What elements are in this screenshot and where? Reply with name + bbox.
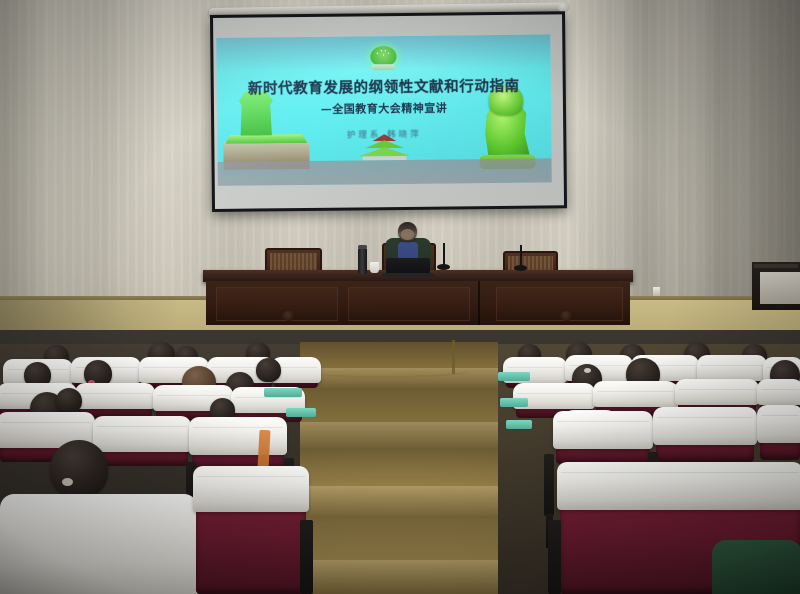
aisle-riser bbox=[300, 516, 498, 560]
table-seam bbox=[478, 281, 480, 325]
lecture-hall-photo: 新时代教育发展的纲领性文献和行动指南 —全国教育大会精神宣讲 护理系 韩晓萍 bbox=[0, 0, 800, 594]
hair-tie bbox=[584, 368, 591, 373]
seat-cover bbox=[675, 379, 759, 405]
thermos-flask bbox=[358, 248, 367, 274]
seat-cover bbox=[75, 383, 155, 409]
seat bbox=[656, 420, 754, 462]
seat-cover bbox=[553, 411, 653, 449]
seat-cover bbox=[557, 462, 800, 510]
table-knob bbox=[282, 311, 296, 321]
fold-down-desk bbox=[500, 398, 528, 407]
aisle-riser bbox=[300, 388, 498, 422]
seat-cover bbox=[93, 416, 191, 452]
microphone-base bbox=[437, 264, 450, 270]
aisle-step bbox=[300, 486, 498, 516]
seat-cover bbox=[757, 405, 800, 443]
seat-cover bbox=[757, 379, 800, 405]
seat-cover bbox=[193, 466, 309, 512]
table-knob bbox=[560, 311, 574, 321]
seat-armrest bbox=[544, 454, 554, 516]
audience-shoulders bbox=[712, 540, 800, 594]
seat bbox=[96, 428, 188, 466]
seat-cover bbox=[697, 355, 767, 381]
fold-down-desk bbox=[506, 420, 532, 429]
ceiling-cable bbox=[452, 340, 455, 374]
stage-small-item bbox=[653, 287, 660, 296]
seat bbox=[760, 418, 800, 460]
laptop bbox=[386, 258, 430, 274]
fold-down-desk bbox=[286, 408, 316, 417]
table-panel bbox=[348, 287, 470, 321]
audience-head bbox=[256, 358, 281, 382]
microphone-base bbox=[514, 265, 527, 271]
slide-ground-band bbox=[218, 158, 552, 185]
center-aisle bbox=[300, 342, 498, 594]
hair-tie bbox=[62, 478, 73, 486]
microphone-stem bbox=[520, 245, 522, 265]
aisle-step bbox=[300, 560, 498, 594]
paper-cup bbox=[370, 262, 379, 273]
audience-shoulders bbox=[0, 494, 198, 594]
seat-cover bbox=[593, 381, 677, 407]
fold-down-desk bbox=[498, 372, 530, 381]
aisle-step bbox=[300, 422, 498, 448]
seat-cover bbox=[653, 407, 757, 445]
presentation-slide: 新时代教育发展的纲领性文献和行动指南 —全国教育大会精神宣讲 护理系 韩晓萍 bbox=[216, 34, 552, 185]
aisle-riser bbox=[300, 448, 498, 486]
screen-surface: 新时代教育发展的纲领性文献和行动指南 —全国教育大会精神宣讲 护理系 韩晓萍 bbox=[213, 14, 564, 209]
wall-cabinet bbox=[752, 262, 800, 310]
audience-head bbox=[50, 440, 108, 498]
microphone-stem bbox=[443, 243, 445, 265]
seat-armrest bbox=[548, 520, 561, 594]
national-emblem-icon bbox=[366, 44, 400, 74]
slide-main-title: 新时代教育发展的纲领性文献和行动指南 bbox=[217, 74, 551, 98]
seat-cover bbox=[189, 417, 287, 455]
audience-head bbox=[56, 388, 82, 413]
seat bbox=[556, 424, 650, 464]
aisle-riser bbox=[300, 342, 498, 368]
table-panel bbox=[216, 287, 338, 321]
seat-armrest bbox=[300, 520, 313, 594]
fold-down-desk bbox=[264, 388, 302, 397]
projection-screen: 新时代教育发展的纲领性文献和行动指南 —全国教育大会精神宣讲 护理系 韩晓萍 bbox=[210, 11, 567, 212]
seat bbox=[196, 480, 306, 594]
